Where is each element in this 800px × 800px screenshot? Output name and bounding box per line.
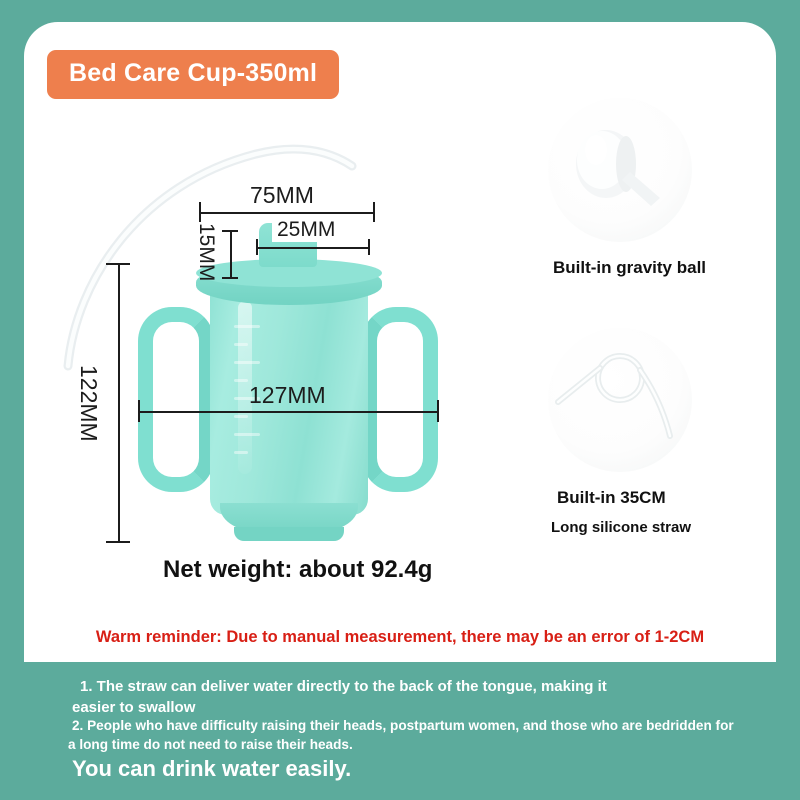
- dim-spout-height-cap-bottom: [222, 277, 238, 279]
- product-photo-stage: 75MM 25MM 15MM 122MM 127MM: [60, 120, 480, 560]
- dim-spout-height-label: 15MM: [194, 218, 218, 286]
- cup-handle-left: [138, 307, 214, 492]
- dim-spout-height-cap-top: [222, 230, 238, 232]
- dim-total-width-line: [138, 411, 438, 413]
- dim-total-height-label: 122MM: [75, 360, 102, 447]
- benefit-item-2: 2. People who have difficulty raising th…: [72, 716, 772, 755]
- dim-spout-height-line: [230, 230, 232, 278]
- benefit-2-line-1: 2. People who have difficulty raising th…: [72, 718, 734, 733]
- gravity-ball-icon: [548, 98, 692, 242]
- dim-total-width-label: 127MM: [244, 382, 331, 409]
- dim-lid-width-cap-right: [373, 202, 375, 222]
- straw-type-label: Long silicone straw: [551, 519, 691, 536]
- cup-foot: [234, 527, 344, 541]
- gravity-ball-photo: [548, 98, 692, 242]
- dim-total-height-line: [118, 263, 120, 543]
- gravity-ball-label: Built-in gravity ball: [553, 258, 706, 278]
- dim-lid-width-label: 75MM: [245, 182, 319, 209]
- dim-spout-width-cap-left: [256, 239, 258, 255]
- dim-total-width-cap-left: [138, 400, 140, 422]
- benefit-1-line-1: 1. The straw can deliver water directly …: [80, 678, 607, 695]
- dim-total-height-cap-top: [106, 263, 130, 265]
- dim-total-width-cap-right: [437, 400, 439, 422]
- coiled-straw-icon: [548, 328, 692, 472]
- dim-spout-width-cap-right: [368, 239, 370, 255]
- cup-handle-right: [362, 307, 438, 492]
- warning-text: Warm reminder: Due to manual measurement…: [0, 628, 800, 647]
- benefit-2-line-2: a long time do not need to raise their h…: [68, 735, 772, 754]
- product-infographic: Bed Care Cup-350ml: [0, 0, 800, 800]
- tagline-text: You can drink water easily.: [72, 756, 351, 782]
- dim-spout-width-line: [256, 247, 368, 249]
- dim-total-height-cap-bottom: [106, 541, 130, 543]
- coiled-straw-photo: [548, 328, 692, 472]
- benefit-item-1: 1. The straw can deliver water directly …: [80, 677, 740, 718]
- dim-spout-width-label: 25MM: [272, 218, 340, 242]
- dim-lid-width-line: [199, 212, 373, 214]
- product-title-banner: Bed Care Cup-350ml: [47, 50, 339, 99]
- net-weight-label: Net weight: about 92.4g: [163, 556, 432, 584]
- straw-length-label: Built-in 35CM: [557, 488, 666, 508]
